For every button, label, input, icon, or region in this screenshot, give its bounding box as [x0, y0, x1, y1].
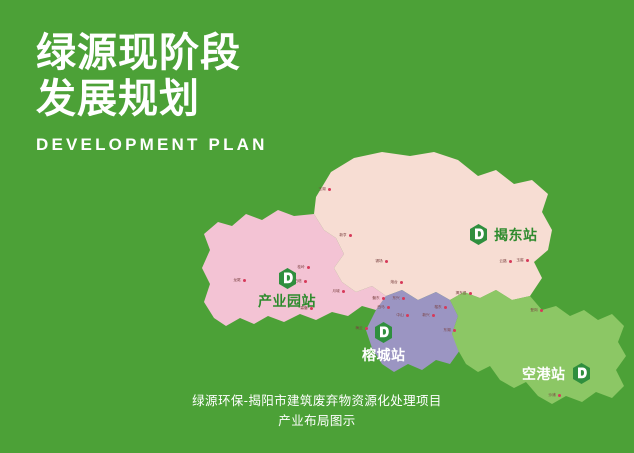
- town-marker: 中山: [396, 312, 409, 318]
- town-dot-icon: [400, 281, 403, 284]
- town-label: 揭东县: [455, 290, 466, 296]
- town-marker: 锡场: [375, 258, 388, 264]
- town-label: 登岗: [530, 307, 537, 313]
- town-label: 玉湖: [318, 186, 325, 192]
- town-dot-icon: [453, 329, 456, 332]
- town-dot-icon: [444, 306, 447, 309]
- station-jiedong[interactable]: 揭东站: [470, 224, 538, 245]
- town-label: 新亨: [339, 232, 346, 238]
- town-label: 玉窖: [516, 257, 523, 263]
- town-dot-icon: [540, 309, 543, 312]
- town-label: 东湖: [443, 327, 450, 333]
- page-subtitle: DEVELOPMENT PLAN: [36, 134, 268, 156]
- town-label: 炮台: [390, 279, 397, 285]
- town-marker: 玉窖: [516, 257, 529, 263]
- town-label: 东兴: [392, 295, 399, 301]
- title-block: 绿源现阶段 发展规划 DEVELOPMENT PLAN: [36, 30, 268, 156]
- caption-line2: 产业布局图示: [0, 411, 634, 431]
- town-dot-icon: [526, 259, 529, 262]
- town-dot-icon: [385, 260, 388, 263]
- town-dot-icon: [402, 297, 405, 300]
- town-marker: 磐东: [372, 295, 385, 301]
- station-konggang[interactable]: 空港站: [522, 363, 590, 384]
- station-label: 空港站: [522, 364, 566, 384]
- town-marker: 东兴: [392, 295, 405, 301]
- town-dot-icon: [328, 188, 331, 191]
- town-dot-icon: [469, 292, 472, 295]
- map-pin-icon: [375, 322, 392, 343]
- map-pin-icon: [279, 268, 296, 289]
- town-marker: 新亨: [339, 232, 352, 238]
- town-label: 西马: [377, 304, 384, 310]
- map-pin-icon: [573, 363, 590, 384]
- town-dot-icon: [243, 279, 246, 282]
- town-label: 云路: [499, 258, 506, 264]
- town-label: 月城: [332, 288, 339, 294]
- town-dot-icon: [342, 290, 345, 293]
- town-dot-icon: [432, 314, 435, 317]
- town-marker: 新兴: [422, 312, 435, 318]
- station-label: 揭东站: [494, 225, 538, 245]
- page-title-line1: 绿源现阶段: [36, 30, 268, 76]
- town-marker: 龙尾: [233, 277, 246, 283]
- town-label: 磐东: [372, 295, 379, 301]
- town-marker: 揭东县: [455, 290, 472, 296]
- town-dot-icon: [509, 260, 512, 263]
- town-dot-icon: [387, 306, 390, 309]
- town-marker: 月城: [332, 288, 345, 294]
- caption-line1: 绿源环保-揭阳市建筑废弃物资源化处理项目: [0, 391, 634, 411]
- caption-block: 绿源环保-揭阳市建筑废弃物资源化处理项目 产业布局图示: [0, 391, 634, 431]
- town-label: 新兴: [422, 312, 429, 318]
- town-label: 中山: [396, 312, 403, 318]
- station-chanyeyuan[interactable]: 产业园站: [258, 268, 316, 311]
- town-marker: 榕东: [434, 304, 447, 310]
- station-label: 产业园站: [258, 291, 316, 311]
- town-dot-icon: [382, 297, 385, 300]
- town-marker: 登岗: [530, 307, 543, 313]
- town-marker: 玉湖: [318, 186, 331, 192]
- town-marker: 炮台: [390, 279, 403, 285]
- town-label: 锡场: [375, 258, 382, 264]
- town-marker: 云路: [499, 258, 512, 264]
- town-dot-icon: [406, 314, 409, 317]
- town-marker: 西马: [377, 304, 390, 310]
- map-pin-icon: [470, 224, 487, 245]
- town-dot-icon: [349, 234, 352, 237]
- poster-root: 绿源现阶段 发展规划 DEVELOPMENT PLAN 揭东站 产业园站: [0, 0, 634, 453]
- town-label: 榕东: [434, 304, 441, 310]
- town-label: 龙尾: [233, 277, 240, 283]
- station-rongcheng[interactable]: 榕城站: [362, 322, 406, 365]
- page-title-line2: 发展规划: [36, 76, 268, 122]
- town-marker: 东湖: [443, 327, 456, 333]
- station-label: 榕城站: [362, 345, 406, 365]
